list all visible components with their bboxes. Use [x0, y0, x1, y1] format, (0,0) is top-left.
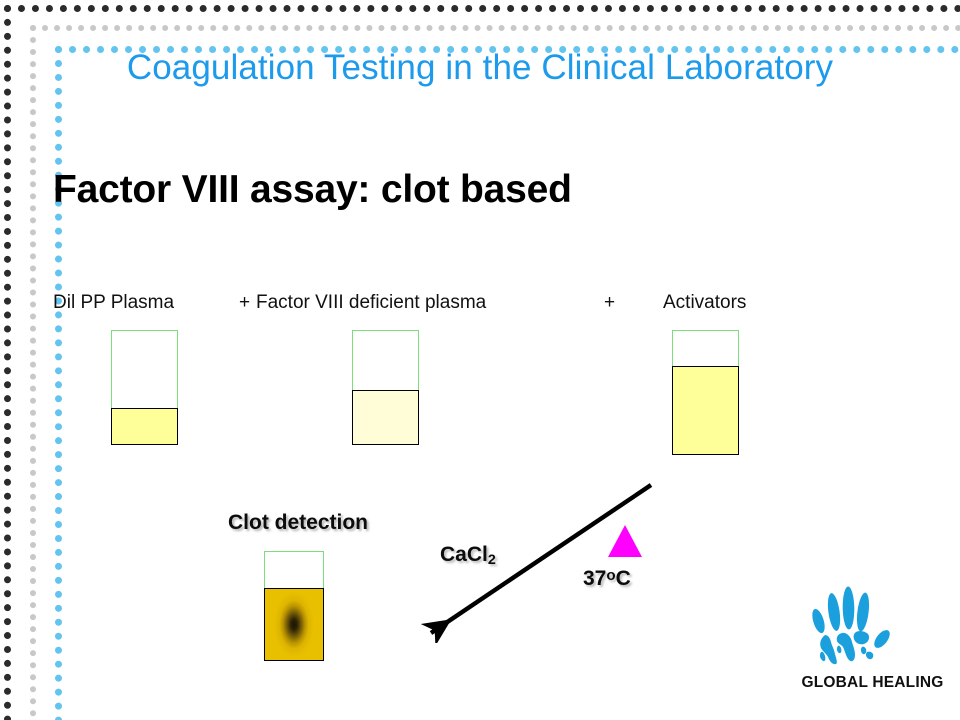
tube-empty-section — [111, 330, 178, 408]
dil-pp-plasma-tube — [111, 330, 178, 445]
ingredient-plus-sign-1: + — [239, 292, 250, 314]
tube-liquid-fill — [111, 408, 178, 445]
temperature-value: 37 — [583, 567, 606, 590]
tube-liquid-fill — [672, 366, 739, 455]
tube-clot-fill — [264, 588, 324, 661]
ingredient-plus-sign-2: + — [604, 292, 615, 314]
cacl2-base-text: CaCl — [440, 543, 488, 566]
ingredient-label-factor-viii-deficient-plasma: Factor VIII deficient plasma — [256, 292, 486, 314]
clot-detection-tube — [264, 551, 324, 661]
ingredient-label-activators: Activators — [663, 292, 746, 314]
temperature-unit: C — [616, 567, 631, 590]
tube-empty-section — [264, 551, 324, 588]
logo-wordmark: GLOBAL HEALING — [790, 674, 955, 692]
tube-empty-section — [672, 330, 739, 366]
temperature-label: 37oC — [583, 567, 631, 591]
slide-heading: Factor VIII assay: clot based — [53, 168, 572, 212]
handprint-world-map-icon — [798, 586, 903, 674]
slide-title: Coagulation Testing in the Clinical Labo… — [80, 48, 880, 88]
activators-tube — [672, 330, 739, 455]
temperature-degree-symbol: o — [606, 567, 615, 584]
ingredient-label-dil-pp-plasma: Dil PP Plasma — [53, 292, 174, 314]
clot-detection-label: Clot detection — [228, 511, 368, 535]
tube-empty-section — [352, 330, 419, 390]
temperature-marker-triangle-icon — [606, 523, 644, 559]
factor-viii-deficient-plasma-tube — [352, 330, 419, 445]
tube-liquid-fill — [352, 390, 419, 445]
cacl2-reagent-label: CaCl2 — [440, 543, 496, 568]
cacl2-subscript: 2 — [488, 552, 496, 568]
global-healing-logo: GLOBAL HEALING — [790, 586, 955, 704]
slide-canvas: Coagulation Testing in the Clinical Labo… — [0, 0, 960, 720]
